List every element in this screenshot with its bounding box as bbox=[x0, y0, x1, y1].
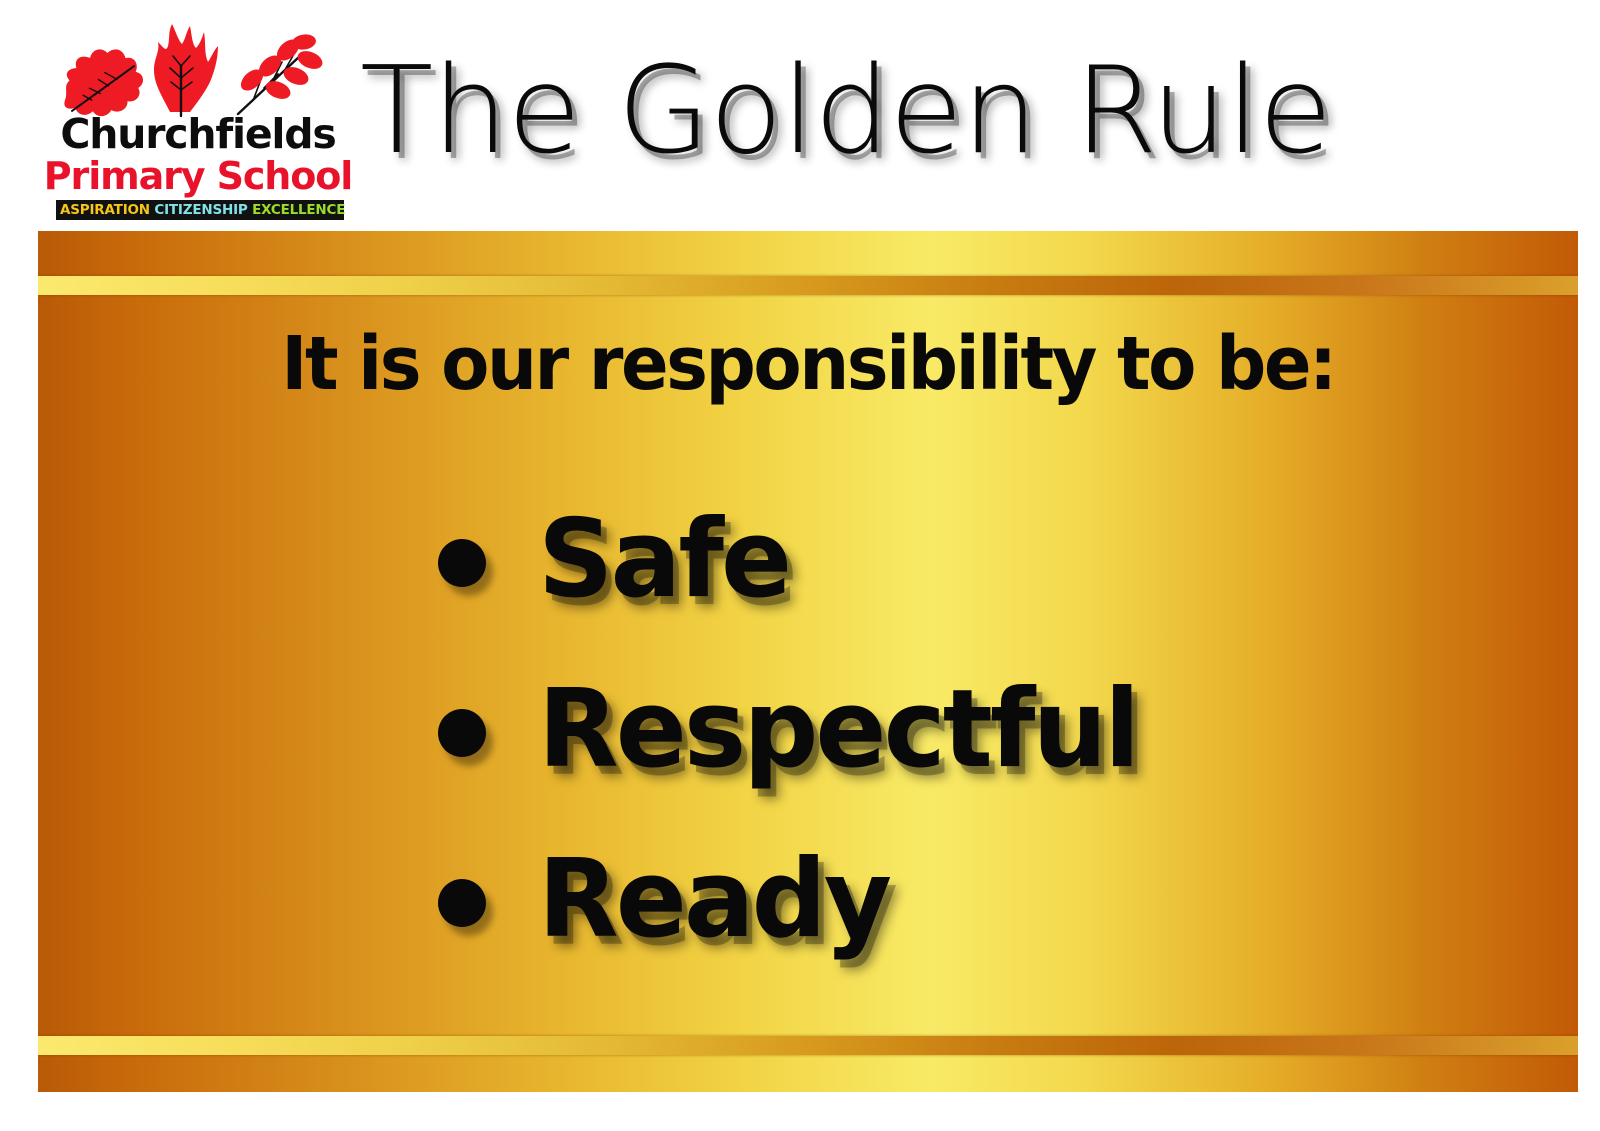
tagline-word-citizenship: CITIZENSHIP bbox=[154, 202, 247, 218]
rule-label-ready: Ready bbox=[538, 846, 889, 954]
bullet-icon bbox=[438, 539, 486, 587]
page-title: The Golden Rule bbox=[360, 52, 1480, 172]
leaves-icon bbox=[42, 22, 354, 118]
logo-school-name-line2: Primary School bbox=[42, 157, 354, 195]
rule-label-safe: Safe bbox=[538, 506, 789, 614]
rule-label-respectful: Respectful bbox=[538, 676, 1137, 784]
school-logo: Churchfields Primary School ASPIRATION C… bbox=[42, 22, 354, 214]
panel-content: It is our responsibility to be: Safe Res… bbox=[38, 231, 1578, 1092]
logo-wordmark: Churchfields Primary School ASPIRATION C… bbox=[42, 114, 354, 220]
tagline-word-excellence: EXCELLENCE bbox=[252, 202, 345, 218]
rules-list: Safe Respectful Ready bbox=[438, 475, 1538, 985]
list-item: Ready bbox=[438, 815, 1538, 985]
responsibility-heading: It is our responsibility to be: bbox=[77, 327, 1540, 401]
tagline-word-aspiration: ASPIRATION bbox=[60, 202, 150, 218]
bullet-icon bbox=[438, 879, 486, 927]
list-item: Respectful bbox=[438, 645, 1538, 815]
logo-tagline: ASPIRATION CITIZENSHIP EXCELLENCE bbox=[56, 200, 344, 220]
gold-panel: It is our responsibility to be: Safe Res… bbox=[38, 231, 1578, 1092]
golden-rule-poster: Churchfields Primary School ASPIRATION C… bbox=[0, 0, 1600, 1131]
poster-header: Churchfields Primary School ASPIRATION C… bbox=[0, 0, 1600, 225]
logo-school-name-line1: Churchfields bbox=[42, 114, 354, 155]
bullet-icon bbox=[438, 709, 486, 757]
list-item: Safe bbox=[438, 475, 1538, 645]
